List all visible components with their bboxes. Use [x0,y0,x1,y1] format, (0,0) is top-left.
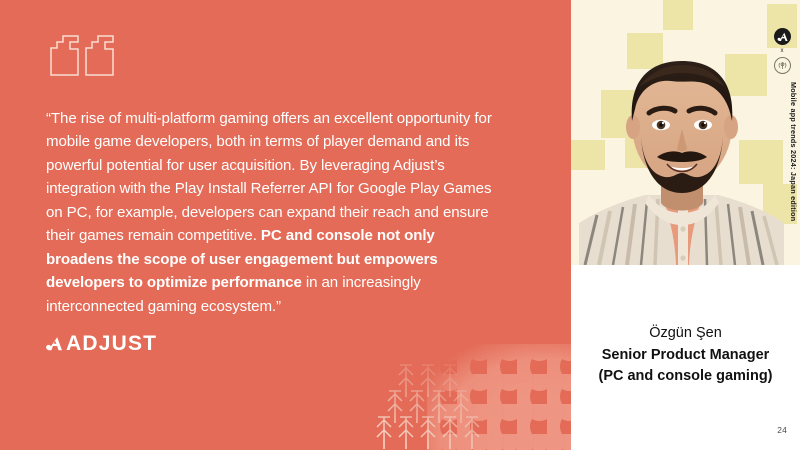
speaker-name: Özgün Şen [649,323,722,345]
adjust-logo: ADJUST [46,333,157,354]
sensortower-circle-icon [774,57,791,74]
adjust-a-icon [46,335,62,352]
speaker-photo-block: x Mobile app trends 2024: Japan edition [571,0,800,265]
quote-panel: “The rise of multi-platform gaming offer… [0,0,571,450]
speaker-role-line-2: (PC and console gaming) [598,366,772,387]
slide-root: “The rise of multi-platform gaming offer… [0,0,800,450]
quote-part-1: “The rise of multi-platform gaming offer… [46,110,492,244]
speaker-panel: x Mobile app trends 2024: Japan edition … [571,0,800,450]
quote-mark-icon [48,28,118,80]
adjust-logo-text: ADJUST [66,333,157,354]
deck-title-vertical: Mobile app trends 2024: Japan edition [789,82,798,221]
wave-pattern-decoration [427,344,571,450]
speaker-portrait [579,17,784,265]
quote-text: “The rise of multi-platform gaming offer… [46,107,496,318]
chevron-pattern-decoration [370,347,510,450]
speaker-attribution: Özgün Şen Senior Product Manager (PC and… [571,265,800,450]
adjust-circle-icon [774,28,791,45]
badge-separator: x [781,48,784,54]
page-number: 24 [777,425,787,435]
partner-badges: x [770,28,794,74]
speaker-role-line-1: Senior Product Manager [602,345,770,366]
